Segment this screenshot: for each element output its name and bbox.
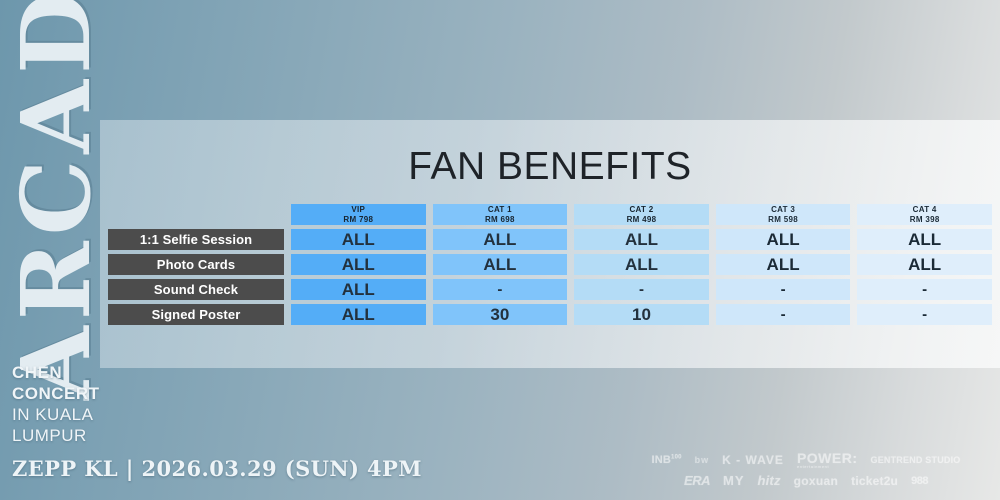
benefit-row-label: 1:1 Selfie Session bbox=[108, 229, 284, 250]
sponsor-logo: K - WAVE bbox=[722, 453, 784, 467]
benefit-value-cell: - bbox=[433, 279, 568, 300]
sponsor-logo-strip: INB100bwK - WAVEPOWER:entertainmentGENTR… bbox=[626, 450, 986, 488]
concert-info-line: LUMPUR bbox=[12, 425, 212, 446]
tier-header: CAT 4RM 398 bbox=[857, 204, 992, 225]
tier-price: RM 498 bbox=[627, 215, 657, 225]
tier-name: CAT 3 bbox=[771, 205, 795, 215]
tier-header: CAT 1RM 698 bbox=[433, 204, 568, 225]
tier-price: RM 398 bbox=[910, 215, 940, 225]
benefit-value-cell: 10 bbox=[574, 304, 709, 325]
benefit-value-cell: ALL bbox=[291, 254, 426, 275]
benefit-value-cell: ALL bbox=[433, 229, 568, 250]
fan-benefits-table: 1:1 Selfie SessionPhoto CardsSound Check… bbox=[108, 204, 992, 329]
benefit-value-cell: ALL bbox=[857, 229, 992, 250]
tier-name: CAT 2 bbox=[629, 205, 653, 215]
table-row-label-column: 1:1 Selfie SessionPhoto CardsSound Check… bbox=[108, 204, 284, 329]
tier-name: CAT 4 bbox=[913, 205, 937, 215]
benefit-value-cell: - bbox=[716, 279, 851, 300]
sponsor-row-secondary: ERAMYhitzgoxuanticket2u988 bbox=[684, 473, 928, 488]
benefit-value-cell: 30 bbox=[433, 304, 568, 325]
concert-info-line: CHEN bbox=[12, 362, 212, 383]
benefit-value-cell: ALL bbox=[574, 229, 709, 250]
benefit-value-cell: ALL bbox=[291, 229, 426, 250]
tier-column-cat-3[interactable]: CAT 3RM 598ALLALL-- bbox=[716, 204, 851, 329]
benefit-value-cell: - bbox=[857, 304, 992, 325]
tier-name: CAT 1 bbox=[488, 205, 512, 215]
benefit-value-cell: ALL bbox=[716, 229, 851, 250]
benefit-value-cell: ALL bbox=[857, 254, 992, 275]
sponsor-logo: 988 bbox=[911, 475, 928, 487]
sponsor-logo: MY bbox=[723, 473, 745, 488]
tier-column-vip[interactable]: VIPRM 798ALLALLALLALL bbox=[291, 204, 426, 329]
tier-header: CAT 3RM 598 bbox=[716, 204, 851, 225]
label-column-header-spacer bbox=[108, 204, 284, 225]
tier-price: RM 598 bbox=[768, 215, 798, 225]
benefit-value-cell: ALL bbox=[291, 304, 426, 325]
benefit-row-label: Photo Cards bbox=[108, 254, 284, 275]
concert-info-block: CHENCONCERTIN KUALALUMPUR bbox=[12, 362, 212, 446]
benefit-value-cell: - bbox=[857, 279, 992, 300]
tier-name: VIP bbox=[351, 205, 365, 215]
benefit-value-cell: - bbox=[574, 279, 709, 300]
tier-header: CAT 2RM 498 bbox=[574, 204, 709, 225]
tier-column-cat-4[interactable]: CAT 4RM 398ALLALL-- bbox=[857, 204, 992, 329]
benefit-row-label: Signed Poster bbox=[108, 304, 284, 325]
poster-vertical-title-text: ARCADIA bbox=[2, 40, 112, 400]
tier-price: RM 698 bbox=[485, 215, 515, 225]
sponsor-logo: hitz bbox=[757, 473, 780, 488]
tier-header: VIPRM 798 bbox=[291, 204, 426, 225]
sponsor-logo: bw bbox=[695, 455, 710, 465]
sponsor-logo: goxuan bbox=[794, 474, 838, 488]
benefit-row-label: Sound Check bbox=[108, 279, 284, 300]
benefit-value-cell: ALL bbox=[291, 279, 426, 300]
sponsor-logo: GENTREND STUDIO bbox=[871, 455, 961, 465]
page-title: FAN BENEFITS bbox=[100, 145, 1000, 189]
tier-price: RM 798 bbox=[343, 215, 373, 225]
sponsor-logo: ERA bbox=[684, 473, 710, 488]
tier-column-cat-1[interactable]: CAT 1RM 698ALLALL-30 bbox=[433, 204, 568, 329]
concert-info-line: CONCERT bbox=[12, 383, 212, 404]
sponsor-logo: INB100 bbox=[651, 454, 681, 466]
sponsor-logo: ticket2u bbox=[851, 474, 898, 488]
venue-date-line: ZEPP KL | 2026.03.29 (SUN) 4PM bbox=[12, 456, 422, 481]
benefit-value-cell: ALL bbox=[716, 254, 851, 275]
sponsor-row-primary: INB100bwK - WAVEPOWER:entertainmentGENTR… bbox=[651, 450, 960, 469]
sponsor-logo-subtext: entertainment bbox=[797, 464, 858, 469]
benefit-value-cell: - bbox=[716, 304, 851, 325]
benefit-value-cell: ALL bbox=[574, 254, 709, 275]
benefit-value-cell: ALL bbox=[433, 254, 568, 275]
tier-column-cat-2[interactable]: CAT 2RM 498ALLALL-10 bbox=[574, 204, 709, 329]
sponsor-logo: POWER:entertainment bbox=[797, 450, 858, 469]
concert-info-line: IN KUALA bbox=[12, 404, 212, 425]
